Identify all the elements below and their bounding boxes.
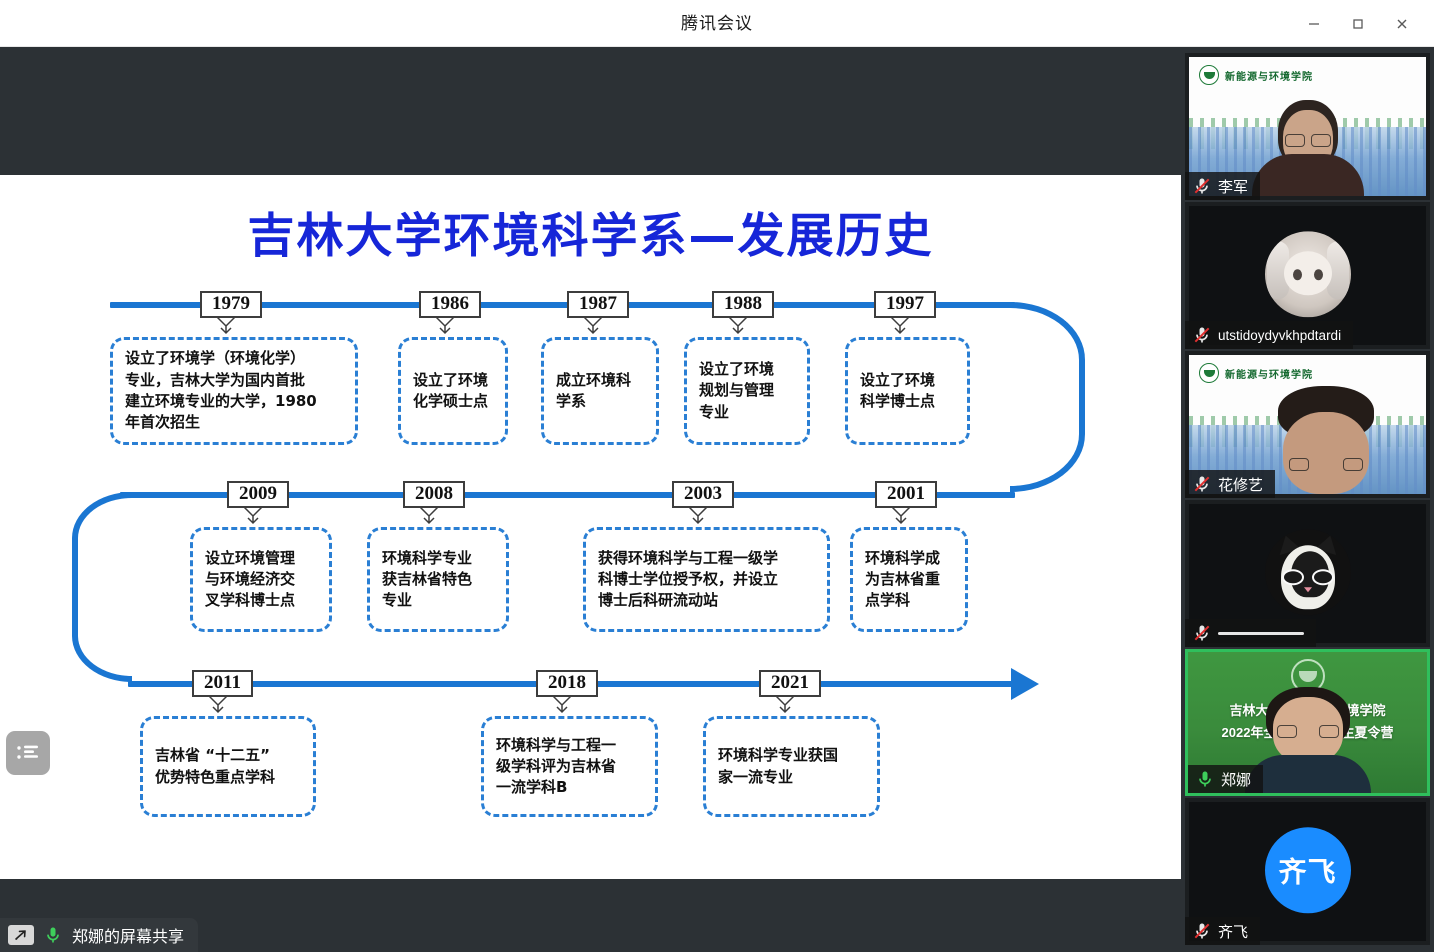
year-chip: 2008	[403, 481, 465, 508]
participant-name-redacted	[1218, 632, 1304, 635]
participant-name: utstidoydyvkhpdtardi	[1218, 328, 1341, 343]
timeline-curve-right	[1010, 302, 1085, 492]
event-card-text: 设立环境管理 与环境经济交 叉学科博士点	[193, 548, 307, 612]
mic-on-icon	[43, 925, 63, 945]
year-tick-arrow	[215, 315, 237, 335]
event-card-text: 获得环境科学与工程一级学 科博士学位授予权，并设立 博士后科研流动站	[586, 548, 790, 612]
college-logo: 新能源与环境学院	[1199, 363, 1313, 383]
event-card: 设立环境管理 与环境经济交 叉学科博士点	[190, 527, 332, 632]
timeline-end-arrow	[1011, 668, 1039, 700]
event-card: 设立了环境 规划与管理 专业	[684, 337, 810, 445]
maximize-button[interactable]	[1336, 7, 1380, 41]
participant-nameplate	[1185, 619, 1316, 647]
event-card: 环境科学专业 获吉林省特色 专业	[367, 527, 509, 632]
year-chip: 1987	[567, 291, 629, 318]
participant-tile-active-speaker[interactable]: 吉林大学新能源与环境学院 2022年全国优秀大学生夏令营 郑娜	[1185, 649, 1430, 796]
year-chip: 1979	[200, 291, 262, 318]
event-card-text: 设立了环境学（环境化学） 专业，吉林大学为国内首批 建立环境专业的大学，1980…	[113, 348, 329, 433]
college-logo: 新能源与环境学院	[1199, 65, 1313, 85]
participant-nameplate: 齐飞	[1185, 917, 1260, 945]
participant-nameplate: 李军	[1185, 172, 1260, 200]
event-card: 环境科学成 为吉林省重 点学科	[850, 527, 968, 632]
year-chip: 2018	[536, 670, 598, 697]
university-seal-icon	[1199, 65, 1219, 85]
university-seal-icon	[1199, 363, 1219, 383]
mic-muted-icon	[1192, 474, 1212, 494]
year-chip: 2021	[759, 670, 821, 697]
event-card: 环境科学与工程一 级学科评为吉林省 一流学科B	[481, 716, 658, 817]
tencent-meeting-window: 腾讯会议 吉林大学环境科学系—发展历史 1979 1986 1	[0, 0, 1434, 952]
shared-slide: 吉林大学环境科学系—发展历史 1979 1986 1987 1988 1997 …	[0, 175, 1181, 879]
participant-tile[interactable]	[1185, 500, 1430, 647]
participant-rail[interactable]: 新能源与环境学院 李军	[1181, 47, 1434, 952]
event-card-text: 环境科学与工程一 级学科评为吉林省 一流学科B	[484, 735, 628, 799]
participant-name: 花修艺	[1218, 474, 1263, 495]
share-owner-label: 郑娜的屏幕共享	[72, 923, 184, 947]
minimize-button[interactable]	[1292, 7, 1336, 41]
participant-nameplate: utstidoydyvkhpdtardi	[1185, 321, 1353, 349]
college-logo-text: 新能源与环境学院	[1225, 68, 1313, 83]
participants-list-button[interactable]	[6, 731, 50, 775]
pin-arrow-icon[interactable]	[8, 925, 34, 945]
year-tick-arrow	[582, 315, 604, 335]
year-chip: 2001	[875, 481, 937, 508]
event-card: 获得环境科学与工程一级学 科博士学位授予权，并设立 博士后科研流动站	[583, 527, 830, 632]
event-card: 成立环境科 学系	[541, 337, 659, 445]
year-chip: 1988	[712, 291, 774, 318]
year-chip: 2003	[672, 481, 734, 508]
year-chip: 1997	[874, 291, 936, 318]
year-chip: 2011	[192, 670, 253, 697]
mic-muted-icon	[1192, 325, 1212, 345]
event-card-text: 设立了环境 化学硕士点	[401, 370, 500, 413]
shared-screen-stage[interactable]: 吉林大学环境科学系—发展历史 1979 1986 1987 1988 1997 …	[0, 47, 1181, 952]
year-chip: 1986	[419, 291, 481, 318]
cat-avatar	[1265, 529, 1351, 615]
participant-silhouette	[1258, 386, 1394, 494]
event-card-text: 环境科学专业获国 家一流专业	[706, 745, 850, 788]
close-button[interactable]	[1380, 7, 1424, 41]
mic-muted-icon	[1192, 921, 1212, 941]
title-bar: 腾讯会议	[0, 0, 1434, 47]
participant-tile[interactable]: utstidoydyvkhpdtardi	[1185, 202, 1430, 349]
year-tick-arrow	[774, 694, 796, 714]
participant-tile[interactable]: 新能源与环境学院 李军	[1185, 53, 1430, 200]
event-card: 设立了环境 化学硕士点	[398, 337, 508, 445]
mic-on-icon	[1195, 769, 1215, 789]
college-logo-text: 新能源与环境学院	[1225, 366, 1313, 381]
year-tick-arrow	[687, 505, 709, 525]
participant-tile[interactable]: 齐飞 齐飞	[1185, 798, 1430, 945]
event-card-text: 设立了环境 科学博士点	[848, 370, 947, 413]
initials-avatar: 齐飞	[1265, 827, 1351, 913]
year-chip: 2009	[227, 481, 289, 508]
timeline-curve-left	[72, 492, 132, 682]
screen-share-status-bar[interactable]: 郑娜的屏幕共享	[0, 918, 198, 952]
year-tick-arrow	[551, 694, 573, 714]
year-tick-arrow	[418, 505, 440, 525]
year-tick-arrow	[727, 315, 749, 335]
mic-muted-icon	[1192, 176, 1212, 196]
window-title: 腾讯会议	[0, 0, 1434, 47]
mic-muted-icon	[1192, 623, 1212, 643]
event-card-text: 环境科学专业 获吉林省特色 专业	[370, 548, 484, 612]
participant-tile[interactable]: 新能源与环境学院 花修艺	[1185, 351, 1430, 498]
doll-avatar	[1265, 231, 1351, 317]
event-card-text: 环境科学成 为吉林省重 点学科	[853, 548, 952, 612]
participant-silhouette	[1248, 98, 1368, 196]
event-card: 设立了环境 科学博士点	[845, 337, 970, 445]
event-card: 环境科学专业获国 家一流专业	[703, 716, 880, 817]
year-tick-arrow	[889, 315, 911, 335]
participant-name: 齐飞	[1218, 921, 1248, 942]
event-card-text: 吉林省 “十二五” 优势特色重点学科	[143, 745, 287, 788]
event-card-text: 成立环境科 学系	[544, 370, 643, 413]
event-card-text: 设立了环境 规划与管理 专业	[687, 359, 786, 423]
avatar-initials-text: 齐飞	[1265, 827, 1351, 913]
window-controls	[1292, 0, 1424, 47]
list-icon	[16, 744, 40, 762]
participant-nameplate: 郑娜	[1188, 765, 1263, 793]
participant-name: 李军	[1218, 176, 1248, 197]
year-tick-arrow	[242, 505, 264, 525]
year-tick-arrow	[890, 505, 912, 525]
event-card: 设立了环境学（环境化学） 专业，吉林大学为国内首批 建立环境专业的大学，1980…	[110, 337, 358, 445]
event-card: 吉林省 “十二五” 优势特色重点学科	[140, 716, 316, 817]
participant-name: 郑娜	[1221, 769, 1251, 790]
year-tick-arrow	[207, 694, 229, 714]
participant-nameplate: 花修艺	[1185, 470, 1275, 498]
year-tick-arrow	[434, 315, 456, 335]
slide-title: 吉林大学环境科学系—发展历史	[0, 197, 1181, 266]
